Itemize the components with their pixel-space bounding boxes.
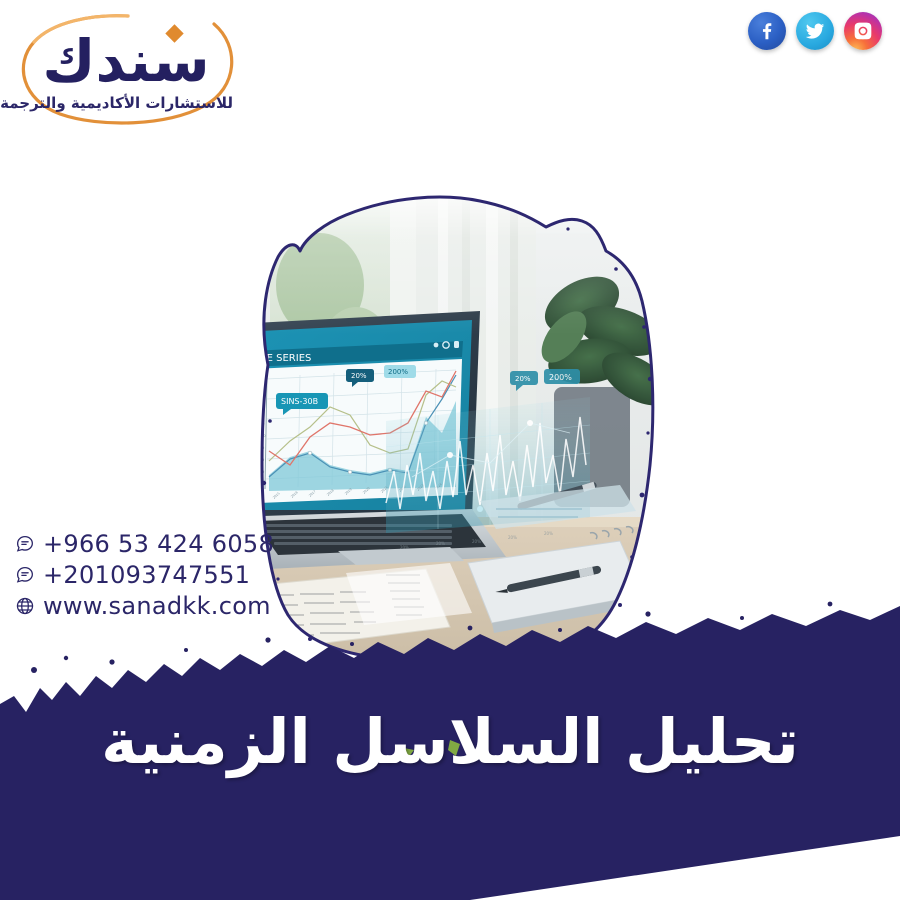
svg-text:20%: 20% xyxy=(472,539,481,544)
contact-row-phone-secondary[interactable]: +201093747551 xyxy=(14,559,274,590)
poster-canvas: سندك للاستشارات الأكاديمية والترجمة xyxy=(0,0,900,900)
contact-row-phone-primary[interactable]: +966 53 424 6058 xyxy=(14,528,274,559)
logo-wordmark: سندك xyxy=(26,26,226,96)
brand-logo[interactable]: سندك للاستشارات الأكاديمية والترجمة xyxy=(8,10,243,128)
facebook-icon[interactable] xyxy=(748,12,786,50)
whatsapp-chat-icon xyxy=(14,564,36,586)
svg-text:20%: 20% xyxy=(436,541,445,546)
svg-text:SINS-30B: SINS-30B xyxy=(281,397,318,406)
page-title: تحليل السلاسل الزمنية xyxy=(0,705,900,778)
svg-text:20%: 20% xyxy=(544,531,553,536)
logo-tagline: للاستشارات الأكاديمية والترجمة xyxy=(18,94,233,112)
social-links xyxy=(748,12,882,50)
svg-text:200%: 200% xyxy=(549,373,572,382)
svg-text:200: 200 xyxy=(256,374,262,378)
photo-content: ME SERIES xyxy=(230,185,679,665)
svg-text:180: 180 xyxy=(256,386,262,390)
svg-text:20%: 20% xyxy=(351,372,367,380)
badge-screen-right: 200% xyxy=(384,365,416,378)
svg-text:200%: 200% xyxy=(388,368,408,376)
badge-holo-right: 200% xyxy=(544,369,580,384)
phone-secondary: +201093747551 xyxy=(43,561,250,589)
svg-text:20%: 20% xyxy=(400,545,409,550)
svg-text:20%: 20% xyxy=(508,535,517,540)
whatsapp-chat-icon xyxy=(14,533,36,555)
phone-primary: +966 53 424 6058 xyxy=(43,530,274,558)
twitter-icon[interactable] xyxy=(796,12,834,50)
instagram-icon[interactable] xyxy=(844,12,882,50)
svg-text:20%: 20% xyxy=(515,375,531,383)
